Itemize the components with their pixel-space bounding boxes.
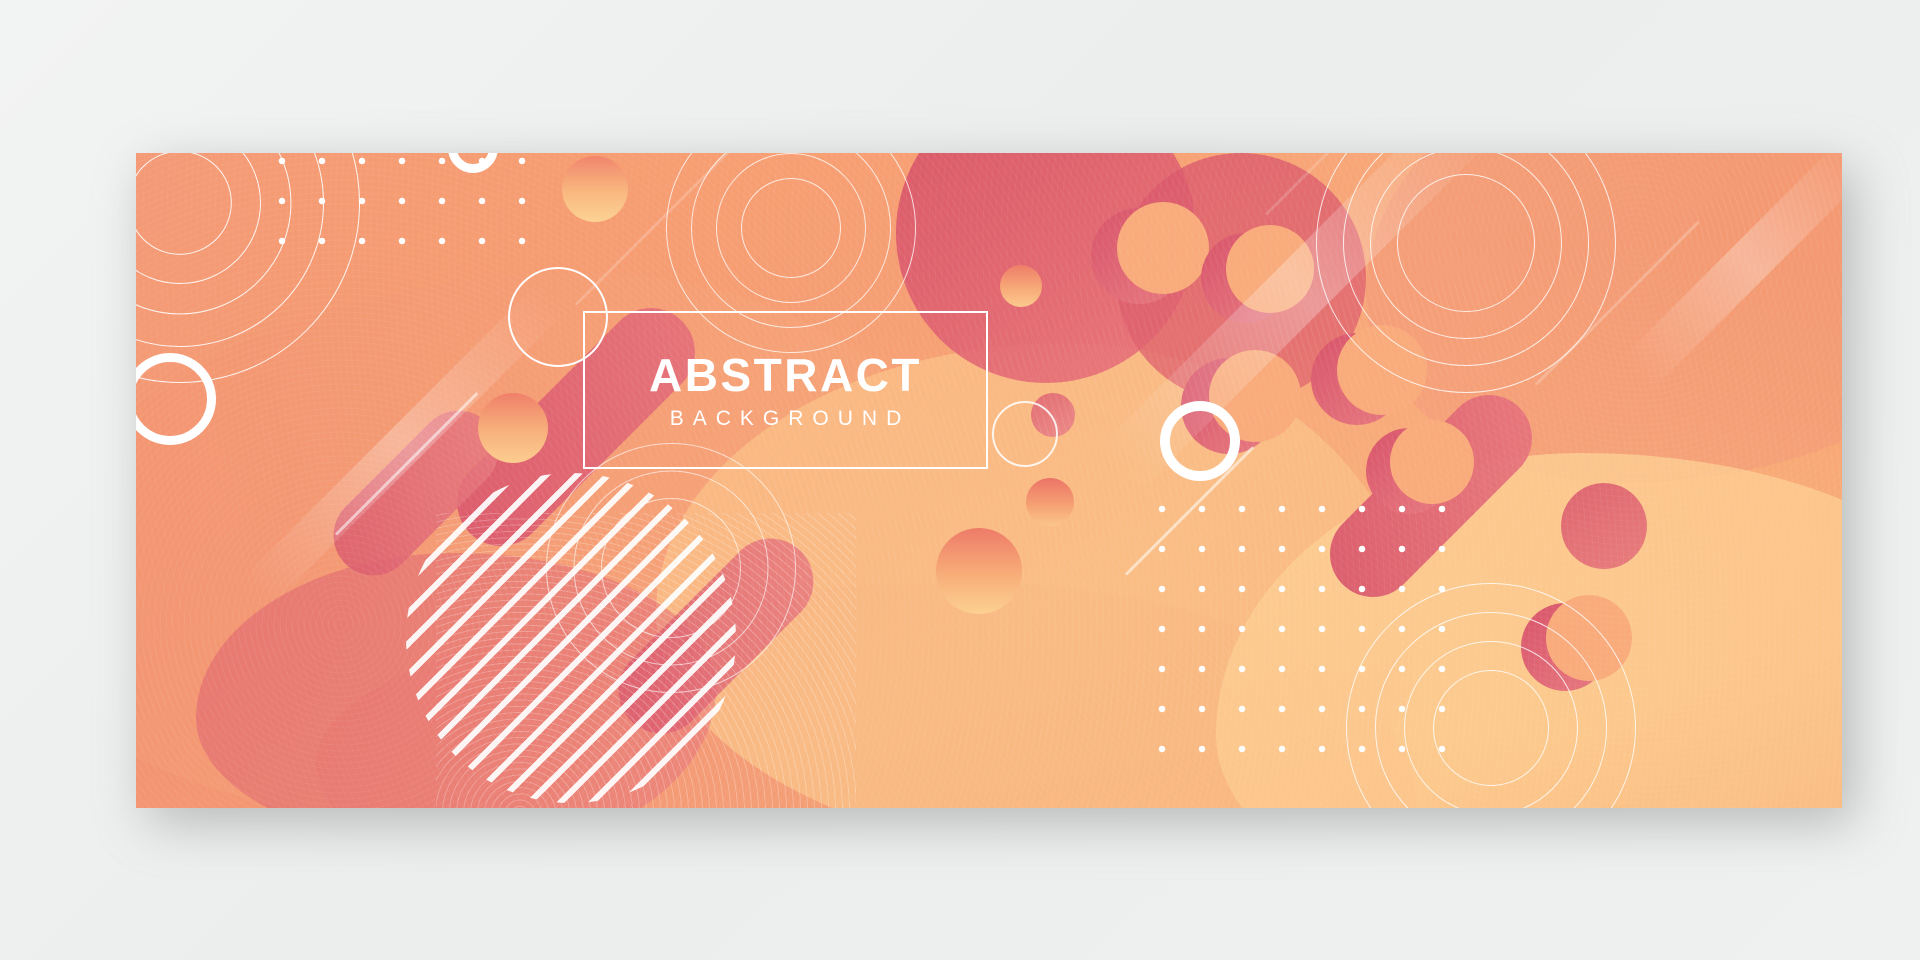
- gradient-sphere-icon-3: [1000, 265, 1042, 307]
- crescent-moon-icon-1: [1091, 208, 1187, 304]
- diagonal-stripes-circle-icon: [406, 473, 736, 803]
- circle-outline-icon-right: [1160, 401, 1240, 481]
- abstract-background-banner: ABSTRACT BACKGROUND: [136, 153, 1842, 808]
- crimson-dot-small-b: [1561, 483, 1647, 569]
- page-title: ABSTRACT: [649, 352, 922, 398]
- dot-grid-icon-top-left: [256, 153, 556, 265]
- gradient-sphere-icon-5: [1026, 478, 1074, 526]
- concentric-circles-icon-top-right: [1316, 153, 1616, 393]
- dot-grid-icon-bottom-right: [1136, 483, 1476, 783]
- page-subtitle: BACKGROUND: [661, 408, 911, 429]
- diagonal-stripes-fill: [406, 473, 736, 803]
- gradient-sphere-icon-2: [478, 393, 548, 463]
- gradient-sphere-icon-1: [562, 156, 628, 222]
- gradient-sphere-icon-4: [936, 528, 1022, 614]
- title-frame: ABSTRACT BACKGROUND: [583, 311, 988, 469]
- circle-outline-thin-icon-right: [992, 401, 1058, 467]
